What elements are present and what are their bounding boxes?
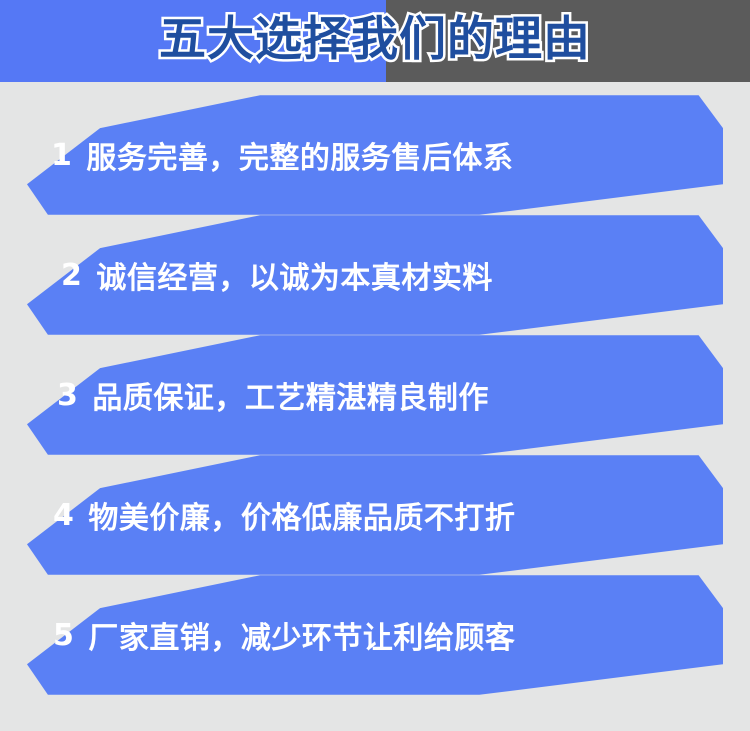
reason-item-2: 2 诚信经营，以诚为本真材实料 — [0, 214, 750, 336]
reason-number: 3 — [57, 378, 78, 413]
reason-text: 厂家直销，减少环节让利给顾客 — [88, 613, 515, 657]
reason-number: 4 — [53, 498, 74, 533]
reason-item-5: 5 厂家直销，减少环节让利给顾客 — [0, 574, 750, 696]
reasons-list: 1 服务完善，完整的服务售后体系 2 诚信经营，以诚为本真材实料 3 品质保证，… — [0, 82, 750, 731]
reason-item-1: 1 服务完善，完整的服务售后体系 — [0, 94, 750, 216]
reason-label: 2 诚信经营，以诚为本真材实料 — [27, 214, 723, 336]
reason-label: 3 品质保证，工艺精湛精良制作 — [27, 334, 723, 456]
reason-number: 2 — [61, 258, 82, 293]
reason-item-4: 4 物美价廉，价格低廉品质不打折 — [0, 454, 750, 576]
reason-number: 5 — [53, 618, 74, 653]
reason-text: 诚信经营，以诚为本真材实料 — [96, 253, 493, 297]
page-title: 五大选择我们的理由 — [0, 0, 750, 82]
page-banner: 五大选择我们的理由 — [0, 0, 750, 82]
reason-label: 1 服务完善，完整的服务售后体系 — [27, 94, 723, 216]
reason-text: 物美价廉，价格低廉品质不打折 — [88, 493, 515, 537]
reason-text: 品质保证，工艺精湛精良制作 — [92, 373, 489, 417]
reason-text: 服务完善，完整的服务售后体系 — [86, 133, 513, 177]
reason-label: 5 厂家直销，减少环节让利给顾客 — [27, 574, 723, 696]
reason-number: 1 — [51, 138, 72, 173]
reason-label: 4 物美价廉，价格低廉品质不打折 — [27, 454, 723, 576]
reason-item-3: 3 品质保证，工艺精湛精良制作 — [0, 334, 750, 456]
